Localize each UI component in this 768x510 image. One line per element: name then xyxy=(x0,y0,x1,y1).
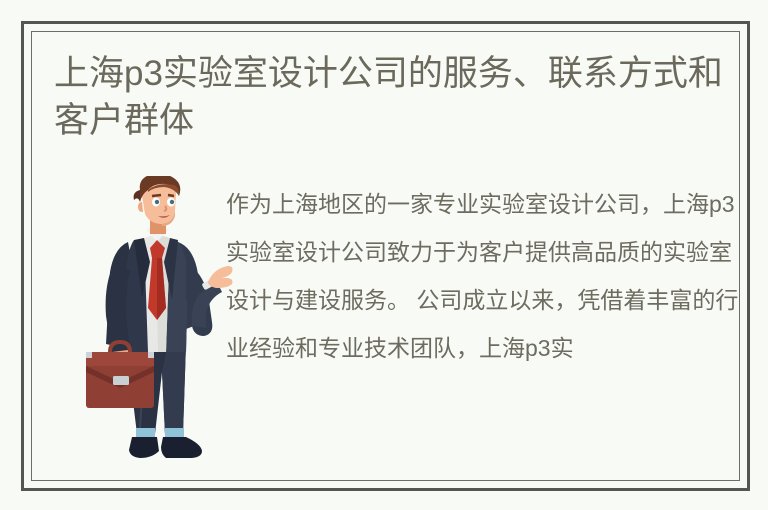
left-sock xyxy=(136,428,155,437)
eye-right-iris xyxy=(170,200,174,204)
article-card: 上海p3实验室设计公司的服务、联系方式和客户群体 xyxy=(21,21,750,491)
briefcase-corner-left xyxy=(86,352,92,358)
eyebrow-right xyxy=(168,195,174,196)
page-title: 上海p3实验室设计公司的服务、联系方式和客户群体 xyxy=(54,50,742,144)
trousers-right-leg xyxy=(162,344,186,434)
left-ear xyxy=(138,202,143,212)
card-inner-frame: 上海p3实验室设计公司的服务、联系方式和客户群体 xyxy=(31,31,740,481)
right-shoe xyxy=(161,437,202,458)
article-body-text: 作为上海地区的一家专业实验室设计公司，上海p3实验室设计公司致力于为客户提供高品… xyxy=(226,180,742,372)
eyebrow-left xyxy=(152,195,161,196)
briefcase-lid xyxy=(86,352,154,366)
eye-left-iris xyxy=(155,200,159,204)
businessman-with-briefcase-illustration xyxy=(82,176,234,476)
content-area: 作为上海地区的一家专业实验室设计公司，上海p3实验室设计公司致力于为客户提供高品… xyxy=(32,162,739,480)
left-shoe xyxy=(129,437,159,458)
hair-sideburn xyxy=(134,190,140,202)
briefcase-corner-right xyxy=(148,352,154,358)
right-sock xyxy=(165,428,184,437)
briefcase-clasp xyxy=(113,376,129,385)
